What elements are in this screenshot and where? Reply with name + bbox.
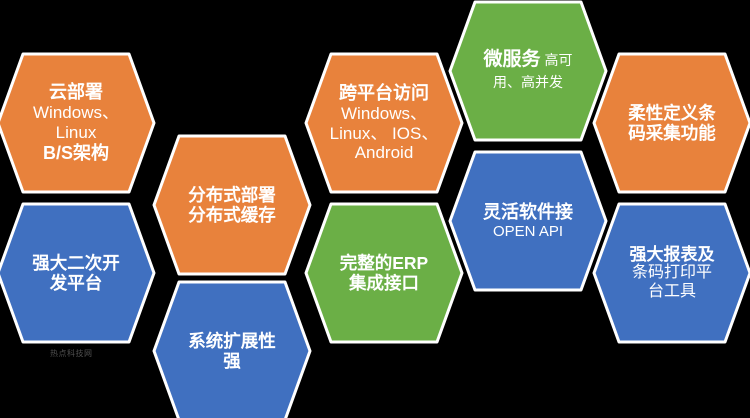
hex-label-secondary-secondary-dev: 发平台 [18,273,134,293]
hex-label-secondary-distributed-deploy: 分布式缓存 [174,205,290,225]
hex-node-erp-integration[interactable]: 完整的ERP集成接口 [304,198,464,348]
hex-label-secondary-report-barcode-print: 条码打印平台工具 [614,264,730,301]
hex-label-secondary-erp-integration: 集成接口 [326,273,442,293]
hex-label-primary-erp-integration: 完整的ERP [326,253,442,273]
hex-label-open-api: 灵活软件接OPEN API [448,202,608,240]
hex-label-system-scalability: 系统扩展性强 [152,331,312,372]
hex-label-flexible-barcode: 柔性定义条码采集功能 [592,103,750,144]
hex-label-report-barcode-print: 强大报表及条码打印平台工具 [592,245,750,302]
hex-label-primary-cloud-deploy: 云部署 [18,82,134,103]
hex-label-primary-microservice: 微服务 [484,49,541,70]
hex-node-cloud-deploy[interactable]: 云部署Windows、LinuxB/S架构 [0,48,156,198]
hex-label-secondary-cross-platform: Windows、Linux、 IOS、Android [326,104,442,163]
hex-node-distributed-deploy[interactable]: 分布式部署分布式缓存 [152,130,312,280]
hex-label-microservice: 微服务 高可用、高并发 [448,48,608,93]
hex-label-primary-cross-platform: 跨平台访问 [326,83,442,104]
hex-label-secondary-system-scalability: 强 [174,351,290,371]
hex-node-cross-platform[interactable]: 跨平台访问Windows、Linux、 IOS、Android [304,48,464,198]
hex-label-primary-open-api: 灵活软件接 [470,202,586,223]
hex-label-erp-integration: 完整的ERP集成接口 [304,253,464,294]
hex-label-secondary-flexible-barcode: 码采集功能 [614,123,730,143]
hex-node-microservice[interactable]: 微服务 高可用、高并发 [448,0,608,146]
hex-label-primary-flexible-barcode: 柔性定义条 [614,103,730,123]
hex-node-flexible-barcode[interactable]: 柔性定义条码采集功能 [592,48,750,198]
hex-label-secondary-cloud-deploy: Windows、Linux [18,103,134,142]
hex-node-secondary-dev[interactable]: 强大二次开发平台 [0,198,156,348]
hex-label-primary-secondary-dev: 强大二次开 [18,253,134,273]
honeycomb-diagram: 云部署Windows、LinuxB/S架构分布式部署分布式缓存跨平台访问Wind… [0,0,750,418]
hex-label-distributed-deploy: 分布式部署分布式缓存 [152,185,312,226]
hex-label-cloud-deploy: 云部署Windows、LinuxB/S架构 [0,82,156,163]
hex-label-cross-platform: 跨平台访问Windows、Linux、 IOS、Android [304,83,464,163]
hex-node-system-scalability[interactable]: 系统扩展性强 [152,276,312,418]
hex-node-open-api[interactable]: 灵活软件接OPEN API [448,146,608,296]
watermark-text: 热点科技网 [50,348,112,360]
hex-node-report-barcode-print[interactable]: 强大报表及条码打印平台工具 [592,198,750,348]
hex-label-tertiary-cloud-deploy: B/S架构 [18,143,134,164]
hex-label-primary-distributed-deploy: 分布式部署 [174,185,290,205]
hex-label-secondary-open-api: OPEN API [470,223,586,240]
hex-label-secondary-dev: 强大二次开发平台 [0,253,156,294]
hex-label-primary-system-scalability: 系统扩展性 [174,331,290,351]
hex-label-primary-report-barcode-print: 强大报表及 [614,245,730,265]
